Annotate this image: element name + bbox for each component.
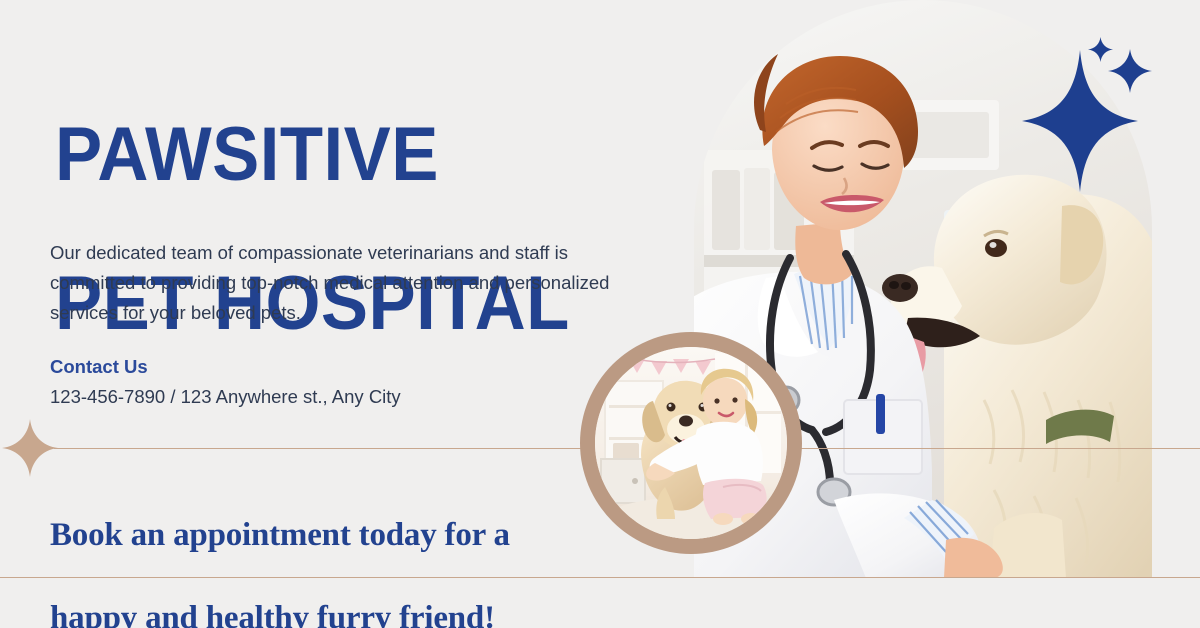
call-to-action-tagline: Book an appointment today for a happy an… [50, 474, 610, 628]
intro-paragraph: Our dedicated team of compassionate vete… [50, 238, 650, 328]
tagline-line-1: Book an appointment today for a [50, 517, 510, 553]
contact-details: 123-456-7890 / 123 Anywhere st., Any Cit… [50, 386, 401, 408]
circle-photo-girl-and-dog [580, 332, 802, 554]
sparkle-small-icon [1088, 37, 1113, 62]
contact-label: Contact Us [50, 356, 148, 378]
circle-photo-inner [595, 347, 787, 539]
poster-canvas: PAWSITIVE PET HOSPITAL Our dedicated tea… [0, 0, 1200, 628]
headline-line-1: PAWSITIVE [55, 118, 650, 192]
tagline-line-2: happy and healthy furry friend! [50, 600, 495, 628]
sparkle-medium-icon [1108, 49, 1152, 93]
girl-hugging-dog-illustration [595, 347, 787, 539]
sparkle-tan-icon [2, 419, 58, 477]
